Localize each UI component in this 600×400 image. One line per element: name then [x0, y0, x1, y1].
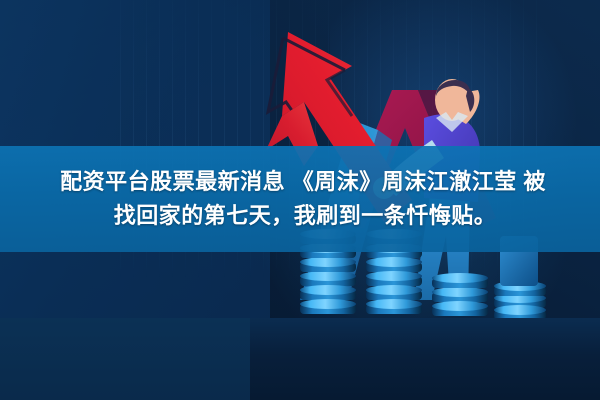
headline-line-2: 找回家的第七天，我刷到一条忏悔贴。 — [104, 200, 497, 232]
banner-image: 配资平台股票最新消息 《周沫》周沫江澈江莹 被 找回家的第七天，我刷到一条忏悔贴… — [0, 0, 600, 400]
headline-line-1: 配资平台股票最新消息 《周沫》周沫江澈江莹 被 — [54, 166, 546, 198]
headline-text-group: 配资平台股票最新消息 《周沫》周沫江澈江莹 被 找回家的第七天，我刷到一条忏悔贴… — [0, 146, 600, 252]
coin-column-4 — [494, 281, 546, 320]
coin-column-3 — [432, 273, 488, 316]
floor-surface-left — [0, 318, 250, 400]
